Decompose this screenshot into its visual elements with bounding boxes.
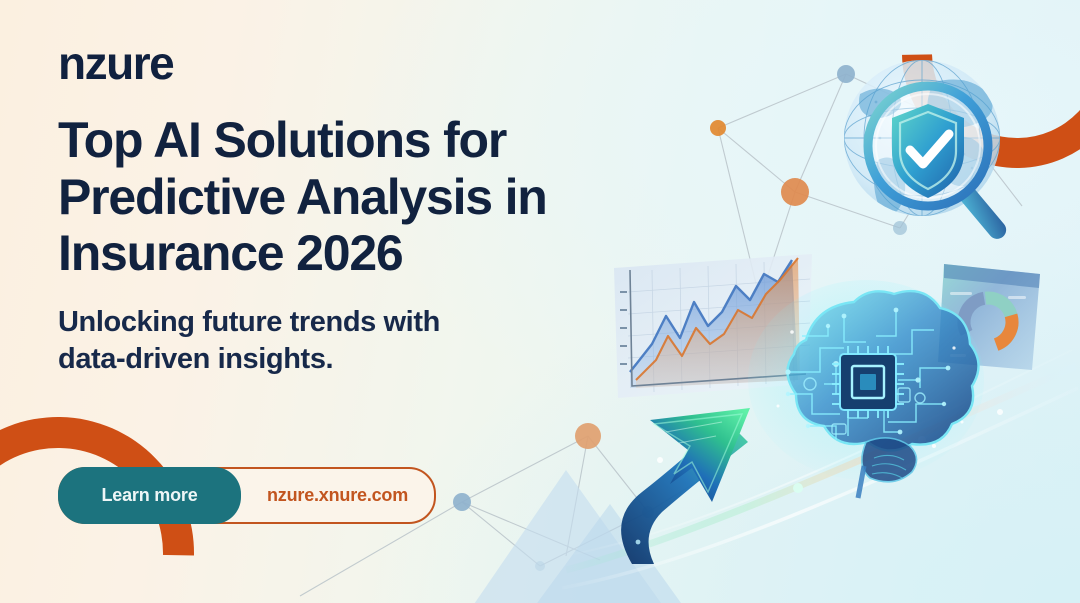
cta-group[interactable]: Learn more nzure.xnure.com — [58, 467, 436, 524]
website-url-label[interactable]: nzure.xnure.com — [241, 469, 434, 522]
network-node — [781, 178, 809, 206]
network-node — [837, 65, 855, 83]
pale-blue-triangle — [470, 470, 710, 603]
subtitle: Unlocking future trends with data-driven… — [58, 304, 588, 379]
network-node — [893, 221, 907, 235]
learn-more-button[interactable]: Learn more — [58, 467, 241, 524]
headline-line-3: Insurance 2026 — [58, 225, 403, 281]
headline-line-1: Top AI Solutions for — [58, 112, 506, 168]
text-block: nzure Top AI Solutions for Predictive An… — [58, 40, 698, 379]
network-node — [453, 493, 471, 511]
network-node — [575, 423, 601, 449]
network-node — [710, 120, 726, 136]
page-title: Top AI Solutions for Predictive Analysis… — [58, 112, 688, 282]
brand-logo[interactable]: nzure — [58, 40, 698, 86]
subtitle-line-1: Unlocking future trends with — [58, 306, 440, 338]
subtitle-line-2: data-driven insights. — [58, 343, 333, 375]
marketing-banner: nzure Top AI Solutions for Predictive An… — [0, 0, 1080, 603]
headline-line-2: Predictive Analysis in — [58, 169, 547, 225]
